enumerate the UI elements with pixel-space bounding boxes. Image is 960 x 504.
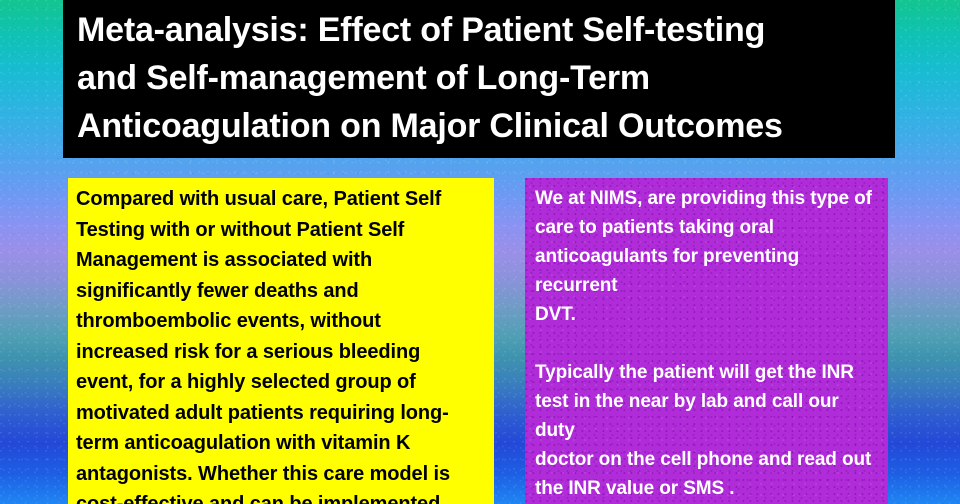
slide-title-box: Meta-analysis: Effect of Patient Self-te… (63, 0, 895, 158)
slide-title: Meta-analysis: Effect of Patient Self-te… (77, 6, 881, 150)
conclusion-panel-yellow: Compared with usual care, Patient Self T… (68, 178, 494, 504)
local-practice-panel-text: We at NIMS, are providing this type of c… (535, 184, 880, 504)
local-practice-panel-magenta: We at NIMS, are providing this type of c… (525, 178, 888, 504)
presentation-slide: Meta-analysis: Effect of Patient Self-te… (0, 0, 960, 504)
conclusion-panel-text: Compared with usual care, Patient Self T… (76, 184, 484, 504)
